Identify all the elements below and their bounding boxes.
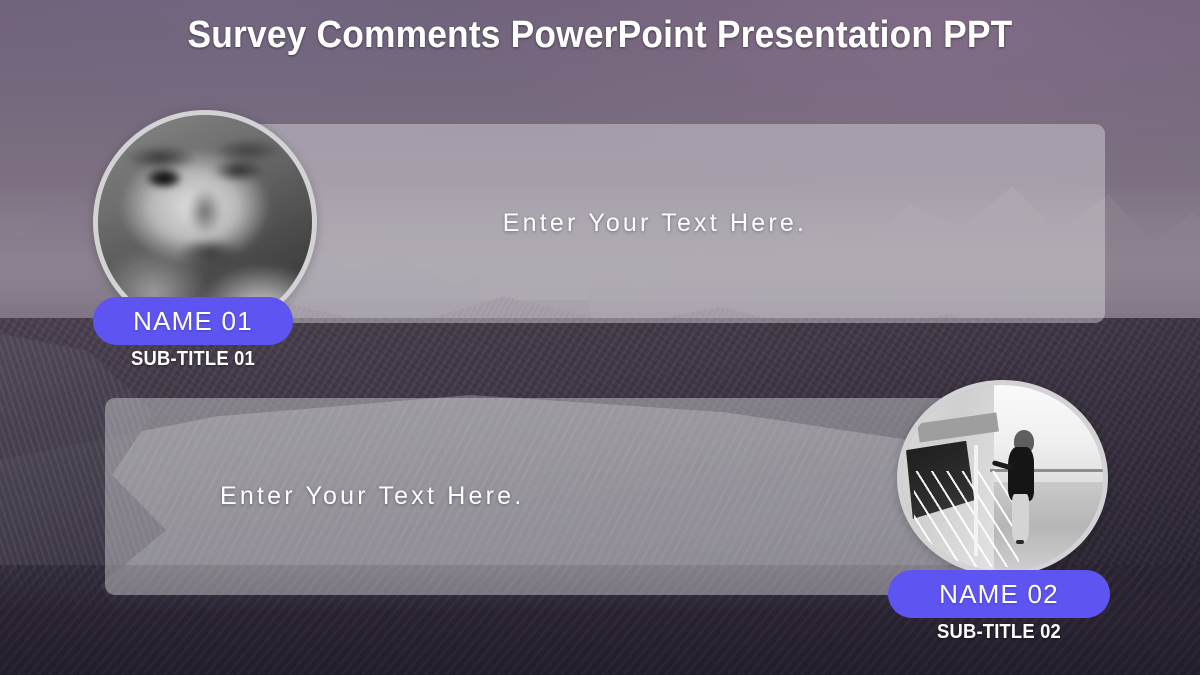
name-label-profile-1: NAME 01 [133, 306, 253, 337]
avatar-profile-2[interactable] [897, 380, 1108, 576]
person-legs [1012, 494, 1030, 541]
subtitle-profile-2: SUB-TITLE 02 [897, 621, 1101, 644]
walkway-photo-icon [902, 385, 1103, 571]
presentation-slide: Survey Comments PowerPoint Presentation … [0, 0, 1200, 675]
person-shoe [1016, 540, 1023, 544]
walkway-post [974, 445, 978, 557]
person-torso [1008, 447, 1034, 501]
name-label-profile-2: NAME 02 [939, 579, 1059, 610]
text-panel-2[interactable]: Enter Your Text Here. [105, 398, 1005, 595]
panel-1-placeholder-text[interactable]: Enter Your Text Here. [503, 209, 807, 238]
name-badge-profile-1[interactable]: NAME 01 [93, 297, 293, 345]
name-badge-profile-2[interactable]: NAME 02 [888, 570, 1110, 618]
text-panel-1[interactable]: Enter Your Text Here. [205, 124, 1105, 323]
walkway-person [998, 430, 1042, 538]
walkway-scene [902, 385, 1103, 571]
slide-title: Survey Comments PowerPoint Presentation … [42, 14, 1158, 57]
panel-2-placeholder-text[interactable]: Enter Your Text Here. [220, 482, 524, 511]
subtitle-profile-1: SUB-TITLE 01 [101, 348, 285, 371]
